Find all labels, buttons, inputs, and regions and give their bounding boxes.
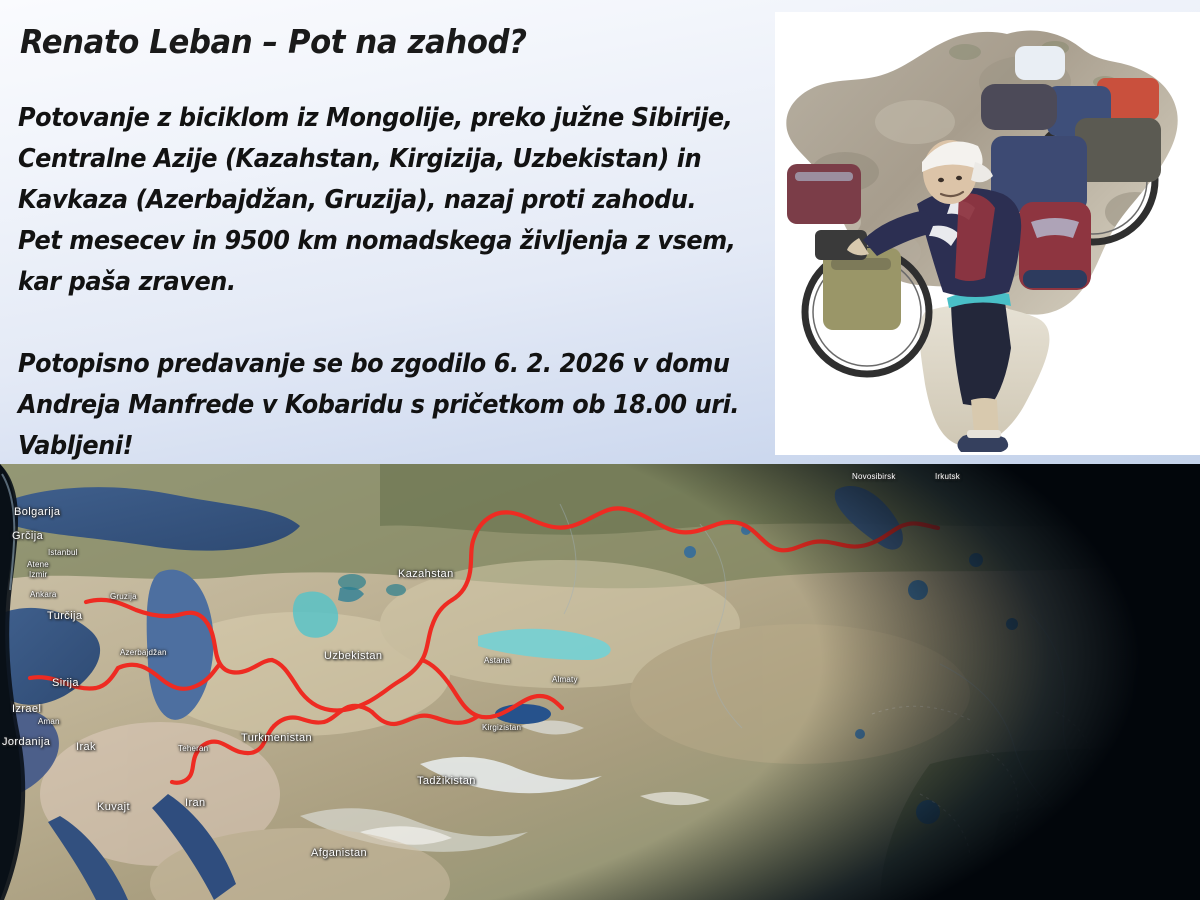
- page-title: Renato Leban – Pot na zahod?: [20, 10, 725, 62]
- top-info-panel: Renato Leban – Pot na zahod? Potovanje z…: [0, 0, 1200, 464]
- description-line: Centralne Azije (Kazahstan, Kirgizija, U…: [18, 139, 732, 180]
- cyclist-photo-card: [775, 12, 1200, 455]
- map-image: [0, 464, 1200, 900]
- description-line: Potovanje z biciklom iz Mongolije, preko…: [18, 98, 732, 139]
- text-block: Renato Leban – Pot na zahod? Potovanje z…: [18, 10, 778, 464]
- event-details-line: Vabljeni!: [18, 426, 732, 464]
- poster-root: Renato Leban – Pot na zahod? Potovanje z…: [0, 0, 1200, 900]
- event-details-line: Andreja Manfrede v Kobaridu s pričetkom …: [18, 385, 732, 426]
- description-line: Pet mesecev in 9500 km nomadskega življe…: [18, 221, 732, 262]
- event-details-line: Potopisno predavanje se bo zgodilo 6. 2.…: [18, 344, 732, 385]
- description-line: Kavkaza (Azerbajdžan, Gruzija), nazaj pr…: [18, 180, 732, 221]
- description-paragraph: Potovanje z biciklom iz Mongolije, preko…: [18, 98, 778, 303]
- cyclist-photo: [775, 12, 1200, 455]
- description-line: kar paša zraven.: [18, 262, 732, 303]
- route-map[interactable]: BolgarijaGrčijaIstanbulAteneIzmirAnkaraT…: [0, 464, 1200, 900]
- event-details-paragraph: Potopisno predavanje se bo zgodilo 6. 2.…: [18, 344, 778, 464]
